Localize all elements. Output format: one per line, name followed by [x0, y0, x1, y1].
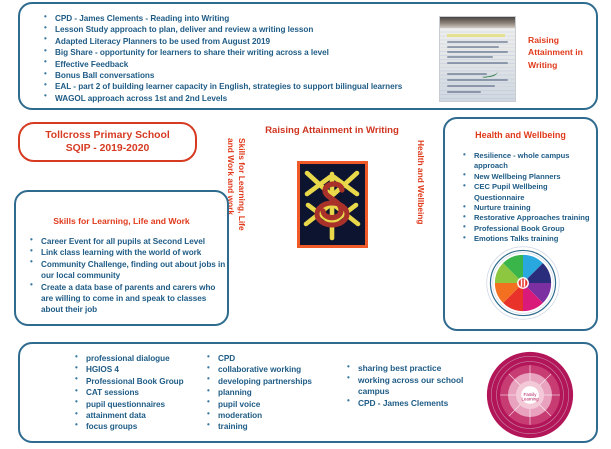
health-wellbeing-item: Resilience - whole campus approach	[461, 151, 597, 172]
evidence-item: pupil questionnaires	[73, 399, 185, 410]
evidence-item: planning	[205, 387, 325, 398]
photo-shadow	[440, 17, 515, 28]
evidence-item: attainment data	[73, 410, 185, 421]
health-wellbeing-item: Nurture training	[461, 203, 597, 213]
photo-highlight	[447, 34, 505, 37]
health-wellbeing-title: Health and Wellbeing	[445, 130, 596, 140]
evidence-item: HGIOS 4	[73, 364, 185, 375]
photo-line	[447, 51, 508, 53]
health-wellbeing-vertical-label: Health and Wellbeing	[415, 140, 426, 260]
evidence-item: developing partnerships	[205, 376, 325, 387]
raising-attainment-caption: Raising Attainment in Writing	[528, 34, 598, 71]
actions-bullet-list: CPD - James Clements - Reading into Writ…	[42, 13, 432, 104]
sqip-title-box: Tollcross Primary SchoolSQIP - 2019-2020	[18, 122, 197, 162]
skills-panel: Skills for Learning, Life and Work Caree…	[14, 190, 229, 326]
action-item: Big Share - opportunity for learners to …	[42, 47, 432, 58]
evidence-item: collaborative working	[205, 364, 325, 375]
skills-item: Create a data base of parents and carers…	[28, 282, 226, 316]
action-item: Adapted Literacy Planners to be used fro…	[42, 36, 432, 47]
evidence-item: professional dialogue	[73, 353, 185, 364]
evidence-item: sharing best practice	[345, 363, 490, 375]
photo-line	[447, 41, 508, 43]
photo-green-mark	[482, 68, 499, 78]
health-wellbeing-panel: Health and Wellbeing Resilience - whole …	[443, 117, 598, 331]
wellbeing-colour-wheel-icon	[486, 246, 560, 320]
skills-bullet-list: Career Event for all pupils at Second Le…	[28, 236, 226, 316]
action-item: Lesson Study approach to plan, deliver a…	[42, 24, 432, 35]
action-item: WAGOL approach across 1st and 2nd Levels	[42, 93, 432, 104]
family-learning-target-icon: Family Learning	[486, 351, 574, 439]
action-item: EAL - part 2 of building learner capacit…	[42, 81, 432, 92]
evidence-item: training	[205, 421, 325, 432]
action-item: Bonus Ball conversations	[42, 70, 432, 81]
action-item: Effective Feedback	[42, 59, 432, 70]
evidence-column-one: professional dialogueHGIOS 4Professional…	[73, 353, 185, 433]
health-wellbeing-item: CEC Pupil Wellbeing Questionnaire	[461, 182, 597, 203]
evidence-item: pupil voice	[205, 399, 325, 410]
photo-line	[447, 85, 495, 87]
page-title: Raising Attainment in Writing	[262, 124, 402, 137]
skills-panel-title: Skills for Learning, Life and Work	[16, 216, 227, 226]
svg-text:Learning: Learning	[521, 396, 539, 401]
skills-item: Career Event for all pupils at Second Le…	[28, 236, 226, 247]
photo-line	[447, 46, 499, 48]
skills-item: Community Challenge, finding out about j…	[28, 259, 226, 282]
pupil-writing-photo	[439, 16, 516, 102]
evidence-item: Professional Book Group	[73, 376, 185, 387]
evidence-panel: professional dialogueHGIOS 4Professional…	[18, 342, 598, 443]
health-wellbeing-item: Restorative Approaches training	[461, 213, 597, 223]
evidence-item: CPD	[205, 353, 325, 364]
health-wellbeing-item: New Wellbeing Planners	[461, 172, 597, 182]
sqip-title-text: Tollcross Primary SchoolSQIP - 2019-2020	[45, 129, 170, 155]
health-wellbeing-item: Professional Book Group	[461, 224, 597, 234]
health-wellbeing-item: Emotions Talks training	[461, 234, 597, 244]
evidence-item: CPD - James Clements	[345, 398, 490, 410]
photo-line	[447, 79, 508, 81]
skills-item: Link class learning with the world of wo…	[28, 247, 226, 258]
photo-line	[447, 91, 481, 93]
photo-line	[447, 56, 493, 58]
evidence-item: moderation	[205, 410, 325, 421]
action-item: CPD - James Clements - Reading into Writ…	[42, 13, 432, 24]
actions-panel: CPD - James Clements - Reading into Writ…	[18, 2, 598, 110]
photo-line	[447, 62, 508, 64]
evidence-item: CAT sessions	[73, 387, 185, 398]
evidence-item: focus groups	[73, 421, 185, 432]
health-wellbeing-bullet-list: Resilience - whole campus approachNew We…	[461, 151, 597, 245]
evidence-column-two: CPDcollaborative workingdeveloping partn…	[205, 353, 325, 433]
evidence-item: working across our school campus	[345, 375, 490, 398]
evidence-column-three: sharing best practiceworking across our …	[345, 363, 490, 409]
school-crest	[297, 161, 368, 248]
